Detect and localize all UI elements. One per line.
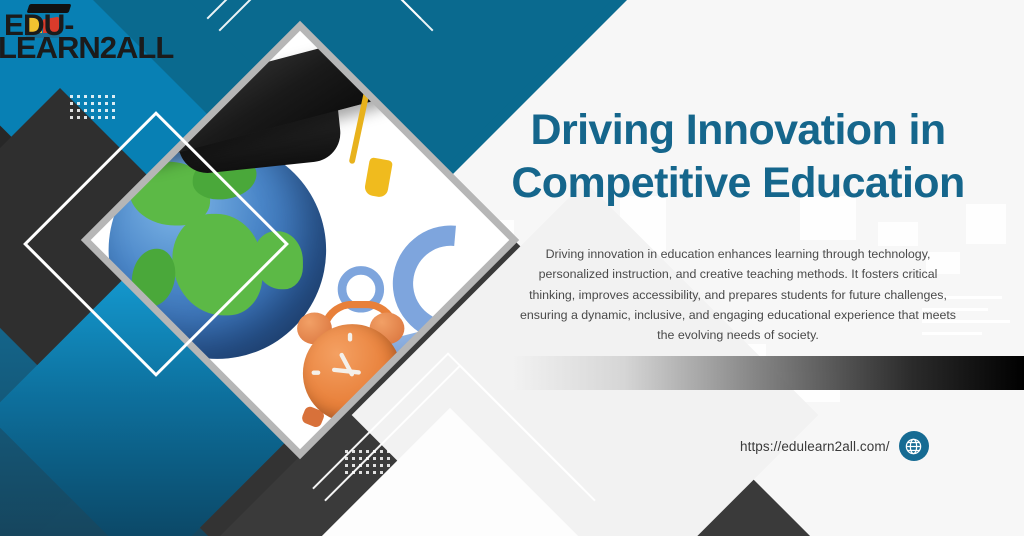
globe-icon[interactable] xyxy=(899,431,929,461)
headline-line-2: Competitive Education xyxy=(468,157,1008,210)
page-title: Driving Innovation in Competitive Educat… xyxy=(468,104,1008,211)
website-url-text[interactable]: https://edulearn2all.com/ xyxy=(740,439,890,454)
brand-logo[interactable]: EDU- LEARN2ALL xyxy=(4,2,164,64)
logo-text-line2: LEARN2ALL xyxy=(0,34,173,63)
website-link-row[interactable]: https://edulearn2all.com/ xyxy=(740,430,929,462)
headline-line-1: Driving Innovation in xyxy=(468,104,1008,157)
gradient-divider-bar xyxy=(512,356,1024,390)
promo-banner: EDU- LEARN2ALL Driving Innovation in Com… xyxy=(0,0,1024,536)
body-paragraph: Driving innovation in education enhances… xyxy=(518,244,958,344)
